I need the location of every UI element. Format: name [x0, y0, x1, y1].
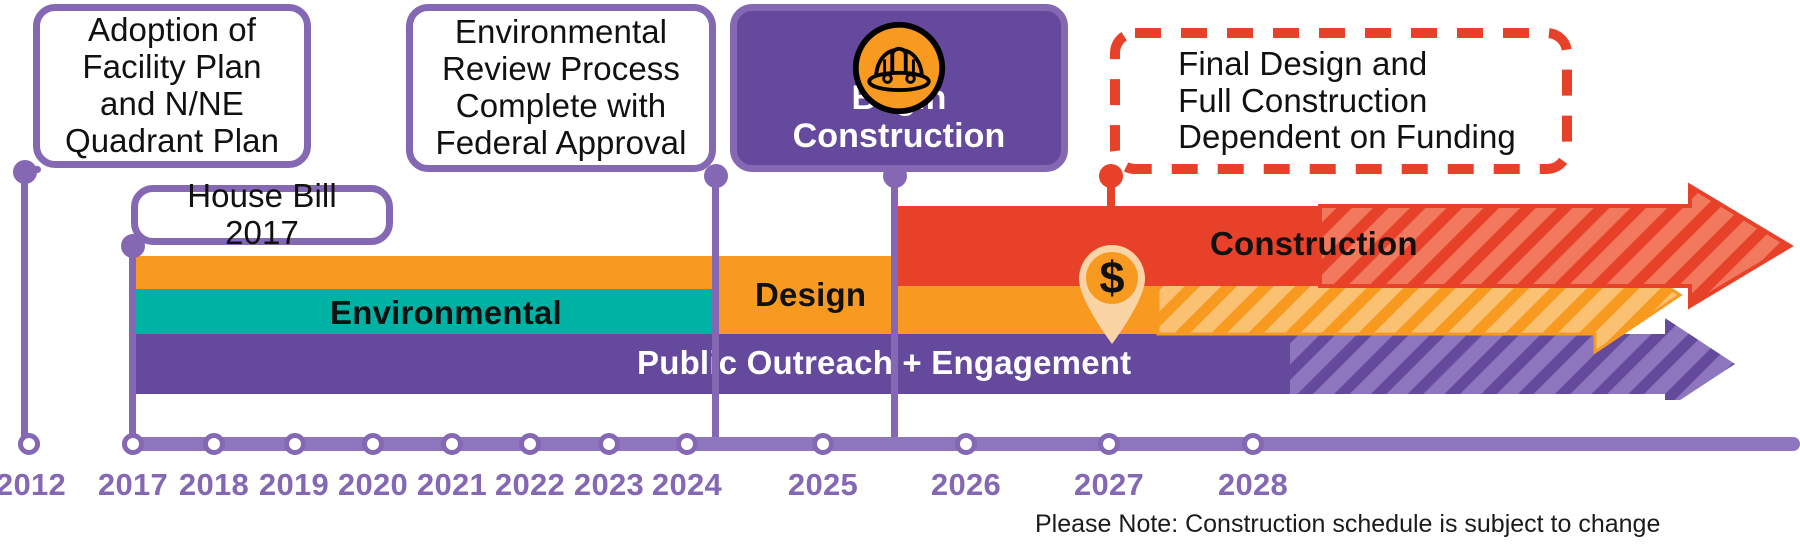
- axis-tick-2022[interactable]: [519, 433, 541, 455]
- axis-tick-2017[interactable]: [122, 433, 144, 455]
- dollar-glyph: $: [1099, 252, 1124, 303]
- bar-label-environmental: Environmental: [330, 294, 562, 332]
- timeline-infographic: Environmental Design Construction Public…: [0, 0, 1800, 557]
- dollar-pin-icon[interactable]: $: [1073, 240, 1151, 346]
- connector-stem-2024: [712, 170, 719, 446]
- year-label-2026: 2026: [920, 467, 1012, 503]
- axis-tick-2024[interactable]: [676, 433, 698, 455]
- connector-stem-2017: [129, 240, 136, 446]
- axis-tick-2021[interactable]: [441, 433, 463, 455]
- callout-house-bill-2017[interactable]: House Bill 2017: [131, 185, 393, 245]
- axis-tick-2018[interactable]: [203, 433, 225, 455]
- year-label-2028: 2028: [1207, 467, 1299, 503]
- axis-tick-2019[interactable]: [284, 433, 306, 455]
- year-label-2027: 2027: [1063, 467, 1155, 503]
- callout-adoption-facility-plan[interactable]: Adoption of Facility Plan and N/NE Quadr…: [33, 4, 311, 168]
- connector-stem-2025: [891, 170, 898, 446]
- year-label-2025: 2025: [777, 467, 869, 503]
- callout-text: House Bill 2017: [138, 178, 386, 252]
- axis-tick-2027[interactable]: [1098, 433, 1120, 455]
- hard-hat-icon: [851, 20, 947, 116]
- callout-final-design-funding[interactable]: Final Design and Full Construction Depen…: [1110, 28, 1572, 174]
- axis-tick-2026[interactable]: [955, 433, 977, 455]
- year-label-2018: 2018: [168, 467, 260, 503]
- callout-environmental-review-complete[interactable]: Environmental Review Process Complete wi…: [406, 4, 716, 172]
- year-label-2012: 2012: [0, 467, 77, 503]
- connector-stem-2012: [21, 166, 28, 446]
- axis-tick-2012[interactable]: [18, 433, 40, 455]
- callout-text: Final Design and Full Construction Depen…: [1156, 46, 1526, 157]
- axis-tick-2020[interactable]: [362, 433, 384, 455]
- footnote: Please Note: Construction schedule is su…: [1035, 510, 1660, 539]
- connector-node-2024: [704, 164, 728, 188]
- bar-label-construction: Construction: [1210, 225, 1418, 263]
- callout-text: Adoption of Facility Plan and N/NE Quadr…: [55, 12, 289, 160]
- bar-label-design: Design: [755, 276, 866, 314]
- callout-text: Environmental Review Process Complete wi…: [425, 14, 696, 162]
- axis-tick-2028[interactable]: [1242, 433, 1264, 455]
- axis-tick-2025[interactable]: [812, 433, 834, 455]
- connector-arm-2012: [21, 166, 41, 173]
- year-label-2017: 2017: [87, 467, 179, 503]
- axis-tick-2023[interactable]: [598, 433, 620, 455]
- year-label-2024: 2024: [641, 467, 733, 503]
